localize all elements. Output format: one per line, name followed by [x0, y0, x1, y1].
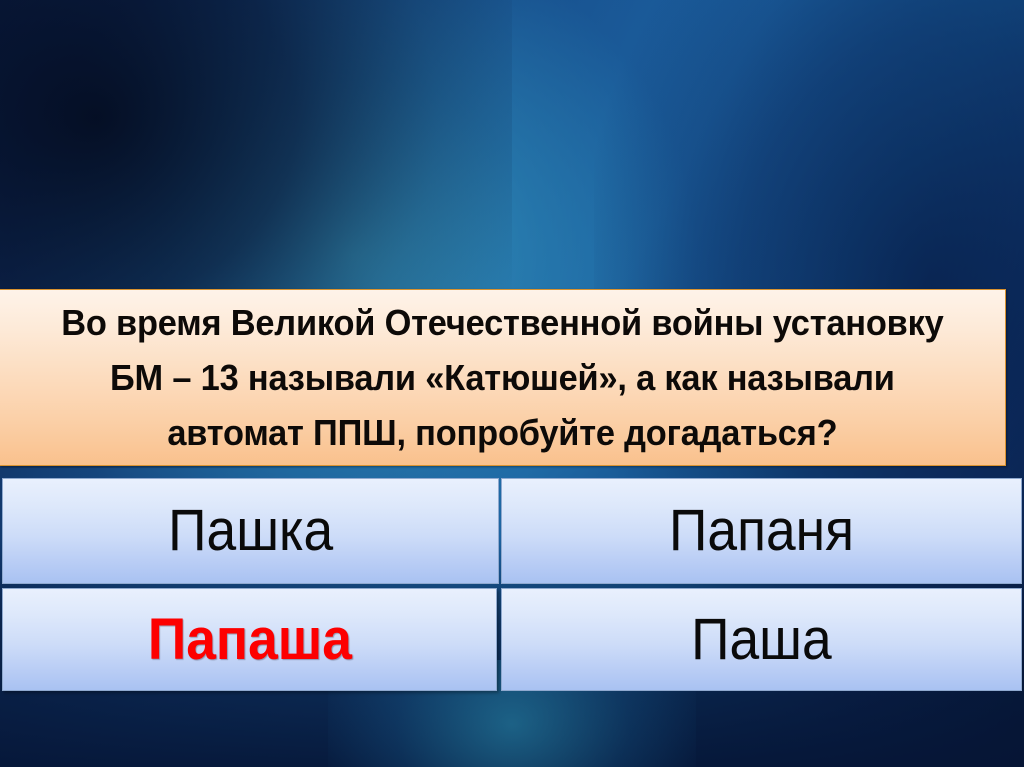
question-banner: Во время Великой Отечественной войны уст… [0, 289, 1006, 466]
quiz-slide: Во время Великой Отечественной войны уст… [0, 0, 1024, 767]
answer-options-grid: Пашка Папаня Папаша Паша [2, 478, 1022, 691]
answer-option-d-label: Паша [691, 611, 832, 669]
answer-option-b[interactable]: Папаня [501, 478, 1022, 584]
answer-option-d[interactable]: Паша [501, 588, 1022, 691]
answer-option-c[interactable]: Папаша [2, 588, 497, 691]
question-text: Во время Великой Отечественной войны уст… [42, 295, 963, 460]
answer-option-a-label: Пашка [168, 502, 333, 560]
answer-option-c-label: Папаша [147, 611, 351, 669]
answer-option-b-label: Папаня [669, 502, 854, 560]
answer-option-a[interactable]: Пашка [2, 478, 499, 584]
